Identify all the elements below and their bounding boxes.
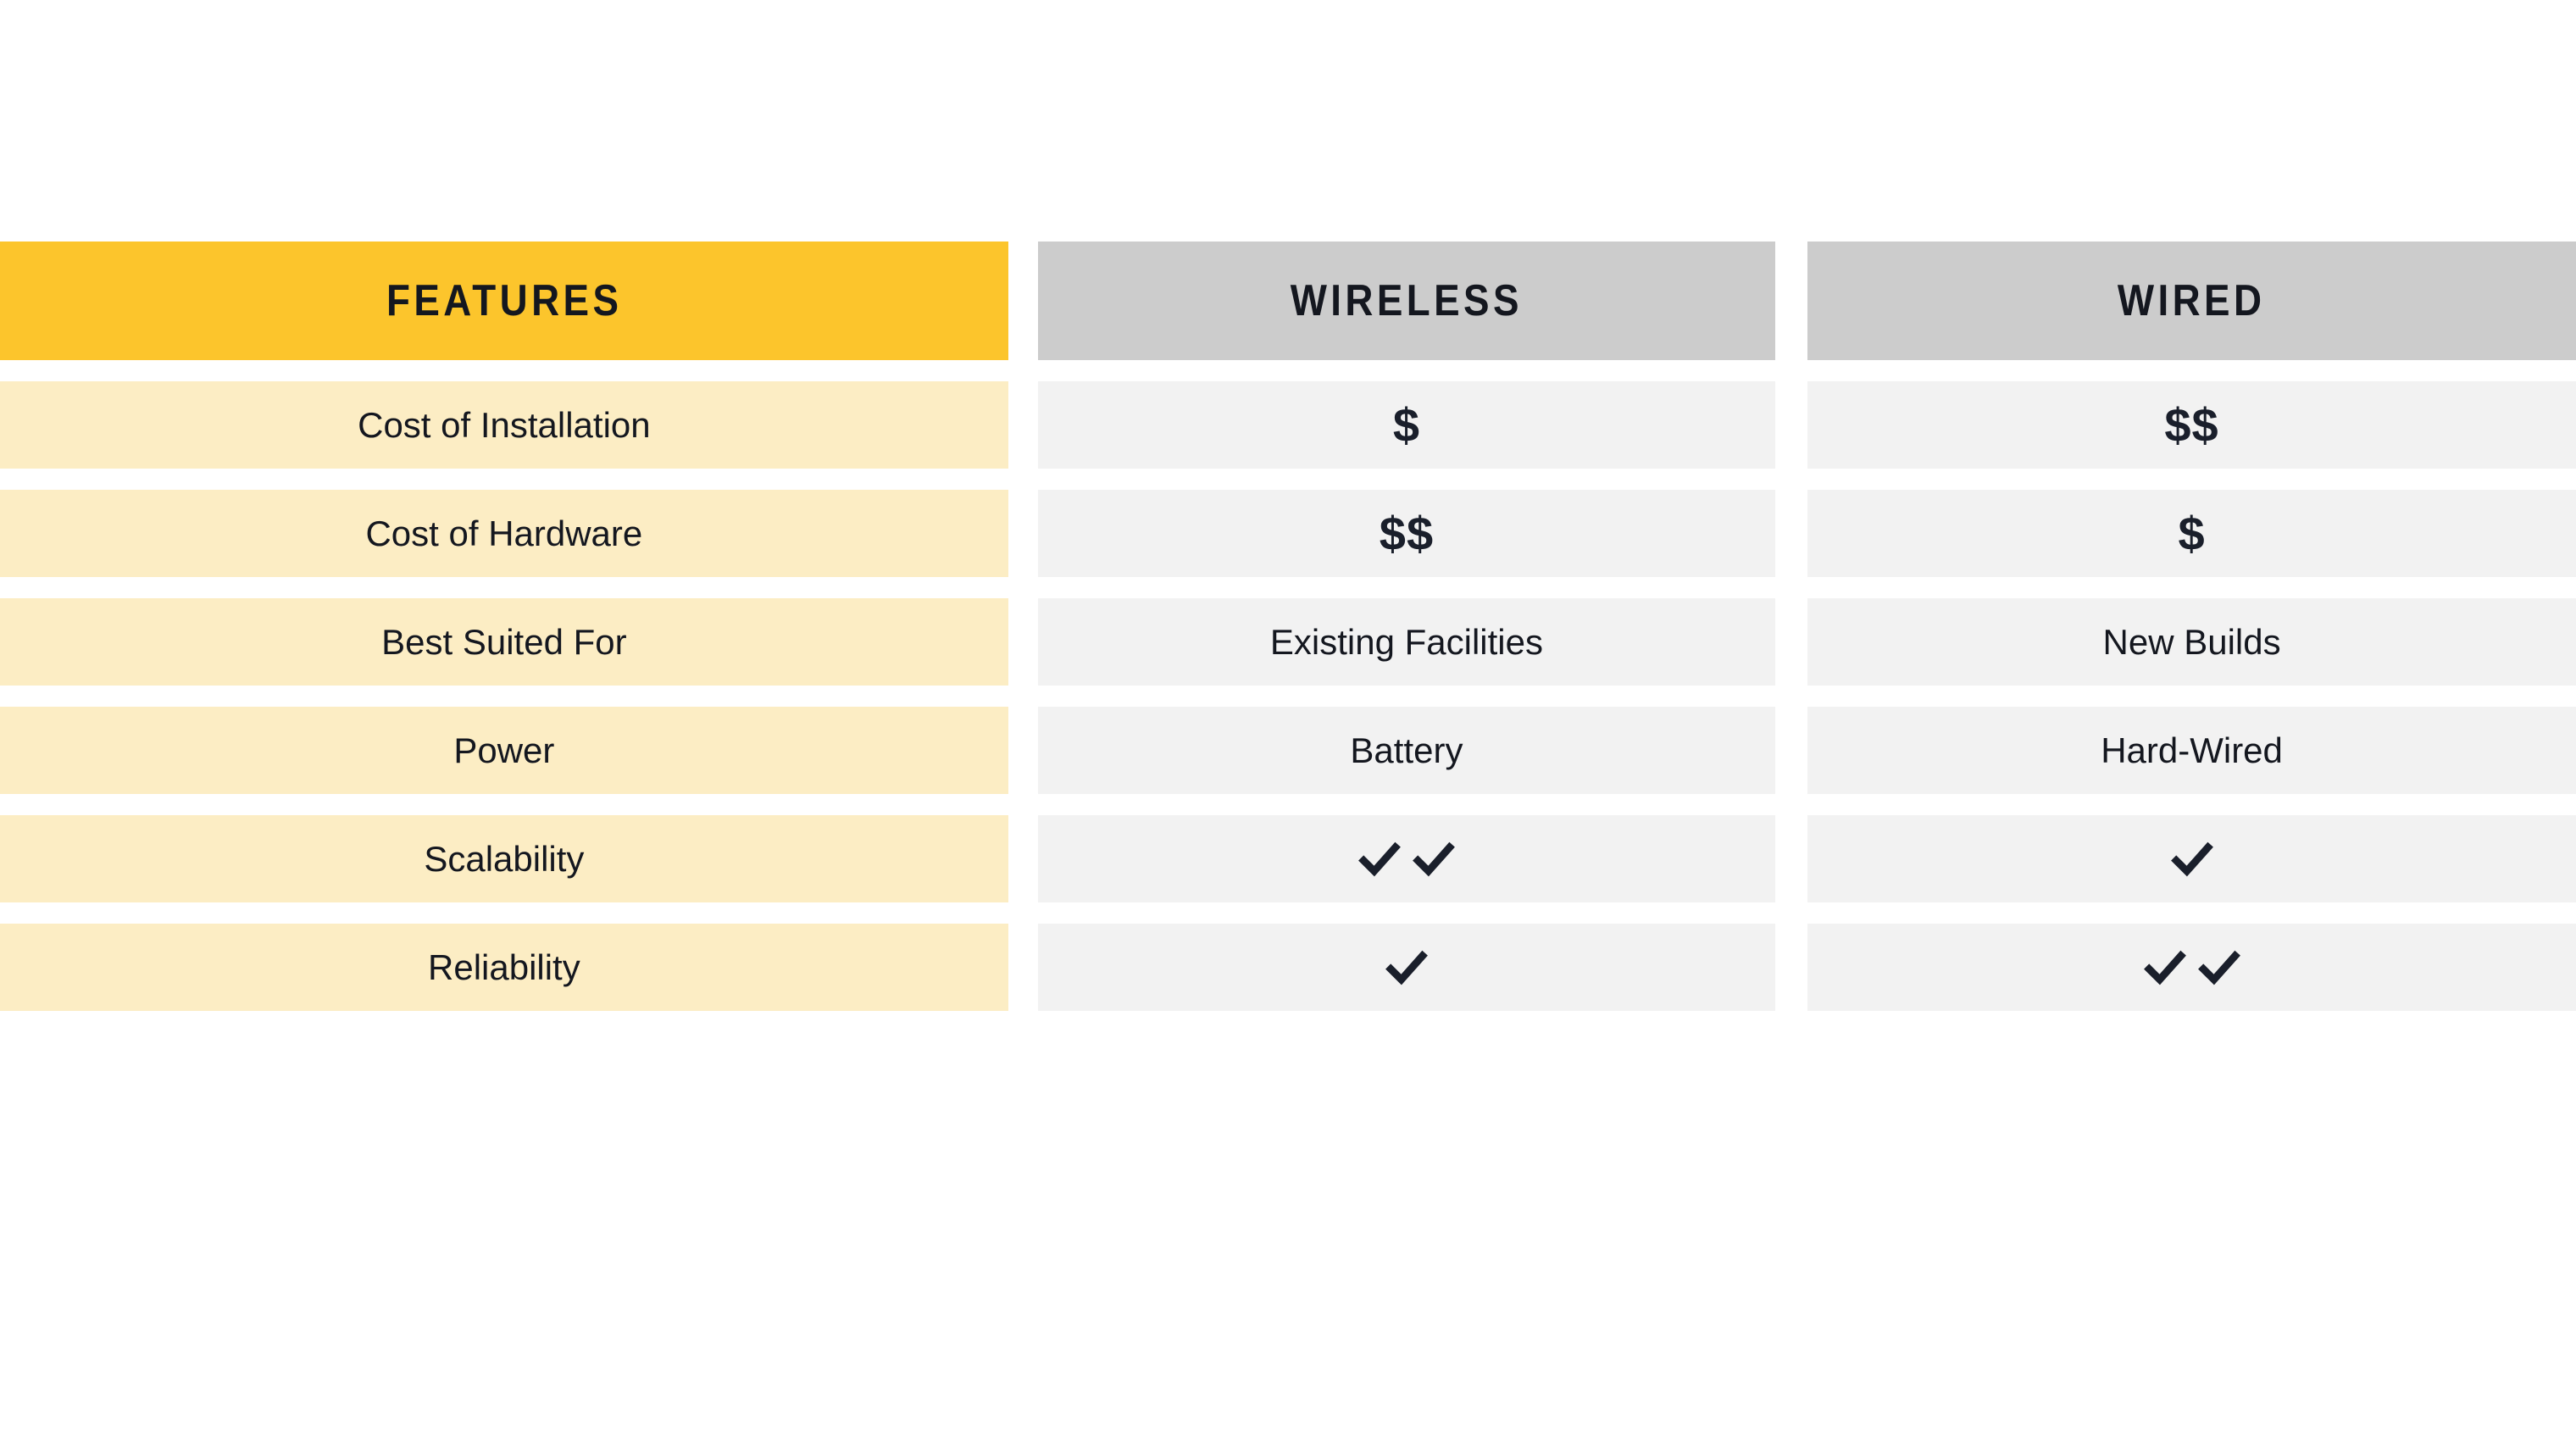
table-row: Cost of Hardware $$ $: [0, 490, 2576, 577]
wireless-value: $$: [1380, 510, 1434, 558]
wired-rating-checks: [2171, 838, 2213, 880]
wired-value: $: [2178, 510, 2205, 558]
wireless-rating-checks: [1358, 838, 1455, 880]
column-header-features-label: FEATURES: [386, 275, 622, 326]
wired-centering-box: New Builds: [1819, 622, 2565, 663]
wireless-cell: [1038, 924, 1775, 1011]
feature-cell: Power: [0, 707, 1008, 794]
wireless-value: $: [1393, 402, 1420, 449]
wired-cell: [1807, 815, 2576, 902]
column-header-features: FEATURES: [0, 241, 1008, 360]
check-icon: [2171, 838, 2213, 880]
feature-cell: Reliability: [0, 924, 1008, 1011]
wireless-value: Battery: [1350, 730, 1463, 771]
feature-label: Best Suited For: [381, 622, 626, 663]
table-row: Cost of Installation $ $$: [0, 381, 2576, 469]
check-icon: [2144, 947, 2186, 989]
feature-label: Reliability: [428, 947, 580, 988]
wired-centering-box: $: [1819, 510, 2565, 558]
check-icon: [1413, 838, 1455, 880]
table-row: Best Suited For Existing Facilities New …: [0, 598, 2576, 686]
wired-header-centering-box: WIRED: [1819, 275, 2565, 326]
feature-cell: Scalability: [0, 815, 1008, 902]
wireless-value: Existing Facilities: [1270, 622, 1543, 663]
wireless-cell: Battery: [1038, 707, 1775, 794]
feature-label: Scalability: [424, 839, 584, 880]
wireless-cell: Existing Facilities: [1038, 598, 1775, 686]
feature-label: Power: [453, 730, 554, 771]
wireless-cell: $$: [1038, 490, 1775, 577]
wireless-cell: [1038, 815, 1775, 902]
wired-rating-checks: [2144, 947, 2240, 989]
column-header-wireless: WIRELESS: [1038, 241, 1775, 360]
wired-cell: New Builds: [1807, 598, 2576, 686]
feature-label: Cost of Hardware: [365, 514, 642, 554]
wired-value: New Builds: [2103, 622, 2281, 663]
check-icon: [1358, 838, 1401, 880]
feature-cell: Best Suited For: [0, 598, 1008, 686]
wired-cell: $: [1807, 490, 2576, 577]
wired-cell: [1807, 924, 2576, 1011]
table-row: Power Battery Hard-Wired: [0, 707, 2576, 794]
wireless-cell: $: [1038, 381, 1775, 469]
column-header-wired-label: WIRED: [2118, 275, 2266, 326]
feature-cell: Cost of Installation: [0, 381, 1008, 469]
wired-value: Hard-Wired: [2101, 730, 2283, 771]
table-row: Scalability: [0, 815, 2576, 902]
wired-centering-box: Hard-Wired: [1819, 730, 2565, 771]
wired-centering-box: [1819, 947, 2565, 989]
feature-cell: Cost of Hardware: [0, 490, 1008, 577]
table-header-row: FEATURES WIRELESS WIRED: [0, 241, 2576, 360]
column-header-wireless-label: WIRELESS: [1291, 275, 1523, 326]
wired-value: $$: [2164, 402, 2218, 449]
check-icon: [1385, 947, 1428, 989]
check-icon: [2198, 947, 2240, 989]
table-row: Reliability: [0, 924, 2576, 1011]
comparison-table: FEATURES WIRELESS WIRED Cost of Installa…: [0, 241, 2576, 1011]
wired-cell: Hard-Wired: [1807, 707, 2576, 794]
column-header-wired: WIRED: [1807, 241, 2576, 360]
feature-label: Cost of Installation: [358, 405, 651, 446]
wired-centering-box: [1819, 838, 2565, 880]
wired-cell: $$: [1807, 381, 2576, 469]
wired-centering-box: $$: [1819, 402, 2565, 449]
wireless-rating-checks: [1385, 947, 1428, 989]
